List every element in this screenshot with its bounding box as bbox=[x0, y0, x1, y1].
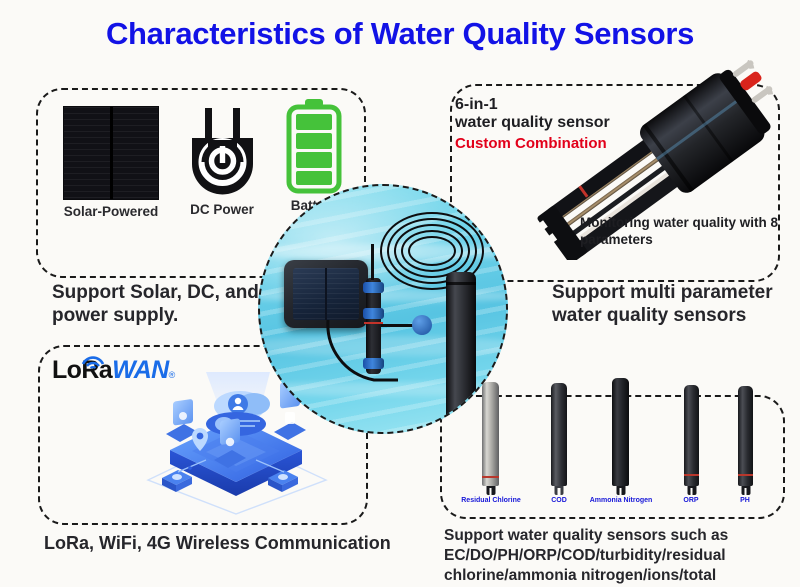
page-title: Characteristics of Water Quality Sensors bbox=[0, 16, 800, 52]
sensor-type-line: 6-in-1 bbox=[455, 96, 655, 114]
probe-ammonia-nitrogen bbox=[612, 378, 629, 486]
power-item-label-dc: DC Power bbox=[168, 202, 276, 217]
dc-plug-icon bbox=[178, 106, 266, 198]
probe-label-orp: ORP bbox=[683, 497, 698, 504]
custom-combination-badge: Custom Combination bbox=[455, 135, 655, 152]
probe-cod bbox=[551, 383, 567, 486]
battery-icon bbox=[285, 98, 343, 194]
probe-orp bbox=[684, 385, 699, 486]
blue-ring-probe-product bbox=[366, 278, 381, 374]
multi-parameter-text-block: 6-in-1 water quality sensor Custom Combi… bbox=[455, 96, 655, 152]
center-water-photo bbox=[258, 184, 508, 434]
sensor-name-line: water quality sensor bbox=[455, 114, 655, 132]
power-item-label-solar: Solar-Powered bbox=[46, 204, 176, 219]
float-ball bbox=[412, 315, 432, 335]
probe-label-cod: COD bbox=[551, 497, 567, 504]
solar-panel-icon bbox=[63, 106, 159, 200]
probe-label-ph: PH bbox=[740, 497, 750, 504]
probe-row: Residual Chlorine COD Ammonia Nitrogen O… bbox=[446, 382, 780, 512]
solar-cable bbox=[322, 318, 402, 398]
probe-label-ammonia-nitrogen: Ammonia Nitrogen bbox=[590, 497, 653, 504]
multi-panel-caption: Support multi parameter water quality se… bbox=[552, 281, 800, 327]
radio-waves-icon bbox=[78, 349, 108, 369]
probe-label-residual-chlorine: Residual Chlorine bbox=[461, 497, 521, 504]
power-item-dc: DC Power bbox=[168, 106, 276, 217]
probe-residual-chlorine bbox=[482, 382, 499, 486]
black-cylinder-sensor-product bbox=[446, 272, 476, 434]
infographic-root: Characteristics of Water Quality Sensors… bbox=[0, 0, 800, 587]
monitoring-note: Monitoring water quality with 8 paramete… bbox=[580, 215, 790, 249]
probe-ph bbox=[738, 386, 753, 486]
sensors-panel-caption: Support water quality sensors such as EC… bbox=[444, 526, 800, 587]
power-item-solar: Solar-Powered bbox=[46, 106, 176, 219]
wireless-panel-caption: LoRa, WiFi, 4G Wireless Communication bbox=[44, 533, 424, 555]
